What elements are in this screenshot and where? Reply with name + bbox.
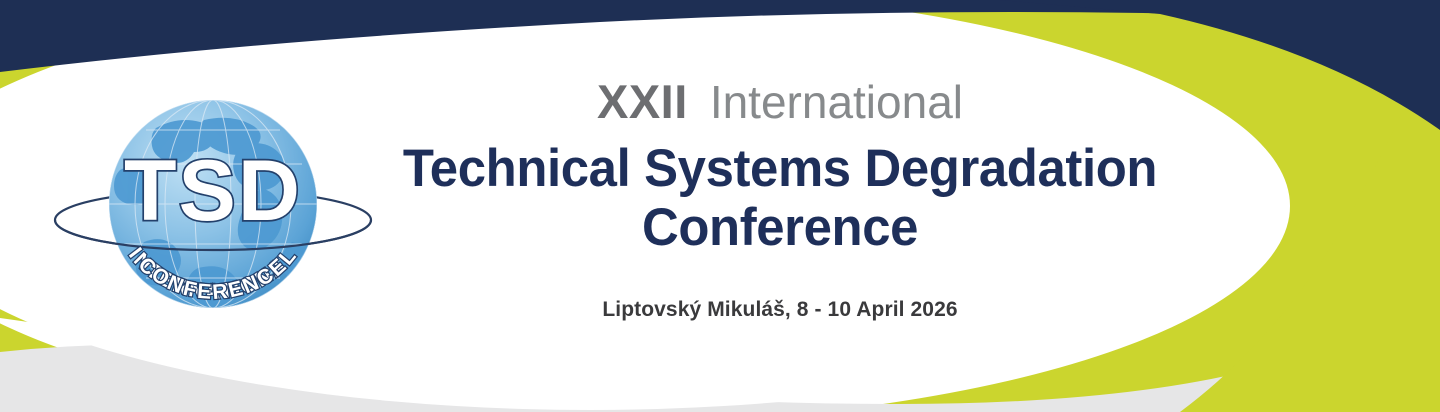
conference-banner: TSD INTERNATIONAL CONFERENCE XXIIInterna… bbox=[0, 0, 1440, 412]
conference-title-line-1: Technical Systems Degradation bbox=[396, 139, 1164, 198]
edition-line: XXIIInternational bbox=[380, 78, 1180, 125]
logo-acronym: TSD bbox=[124, 143, 302, 239]
edition-word: International bbox=[710, 76, 963, 128]
tsd-logo-artwork: TSD INTERNATIONAL CONFERENCE bbox=[48, 92, 378, 317]
banner-text-block: XXIIInternational Technical Systems Degr… bbox=[380, 78, 1180, 322]
tsd-logo: TSD INTERNATIONAL CONFERENCE bbox=[48, 92, 378, 317]
venue-and-date: Liptovský Mikuláš, 8 - 10 April 2026 bbox=[380, 298, 1180, 322]
edition-number: XXII bbox=[597, 75, 688, 128]
conference-title-line-2: Conference bbox=[396, 198, 1164, 257]
